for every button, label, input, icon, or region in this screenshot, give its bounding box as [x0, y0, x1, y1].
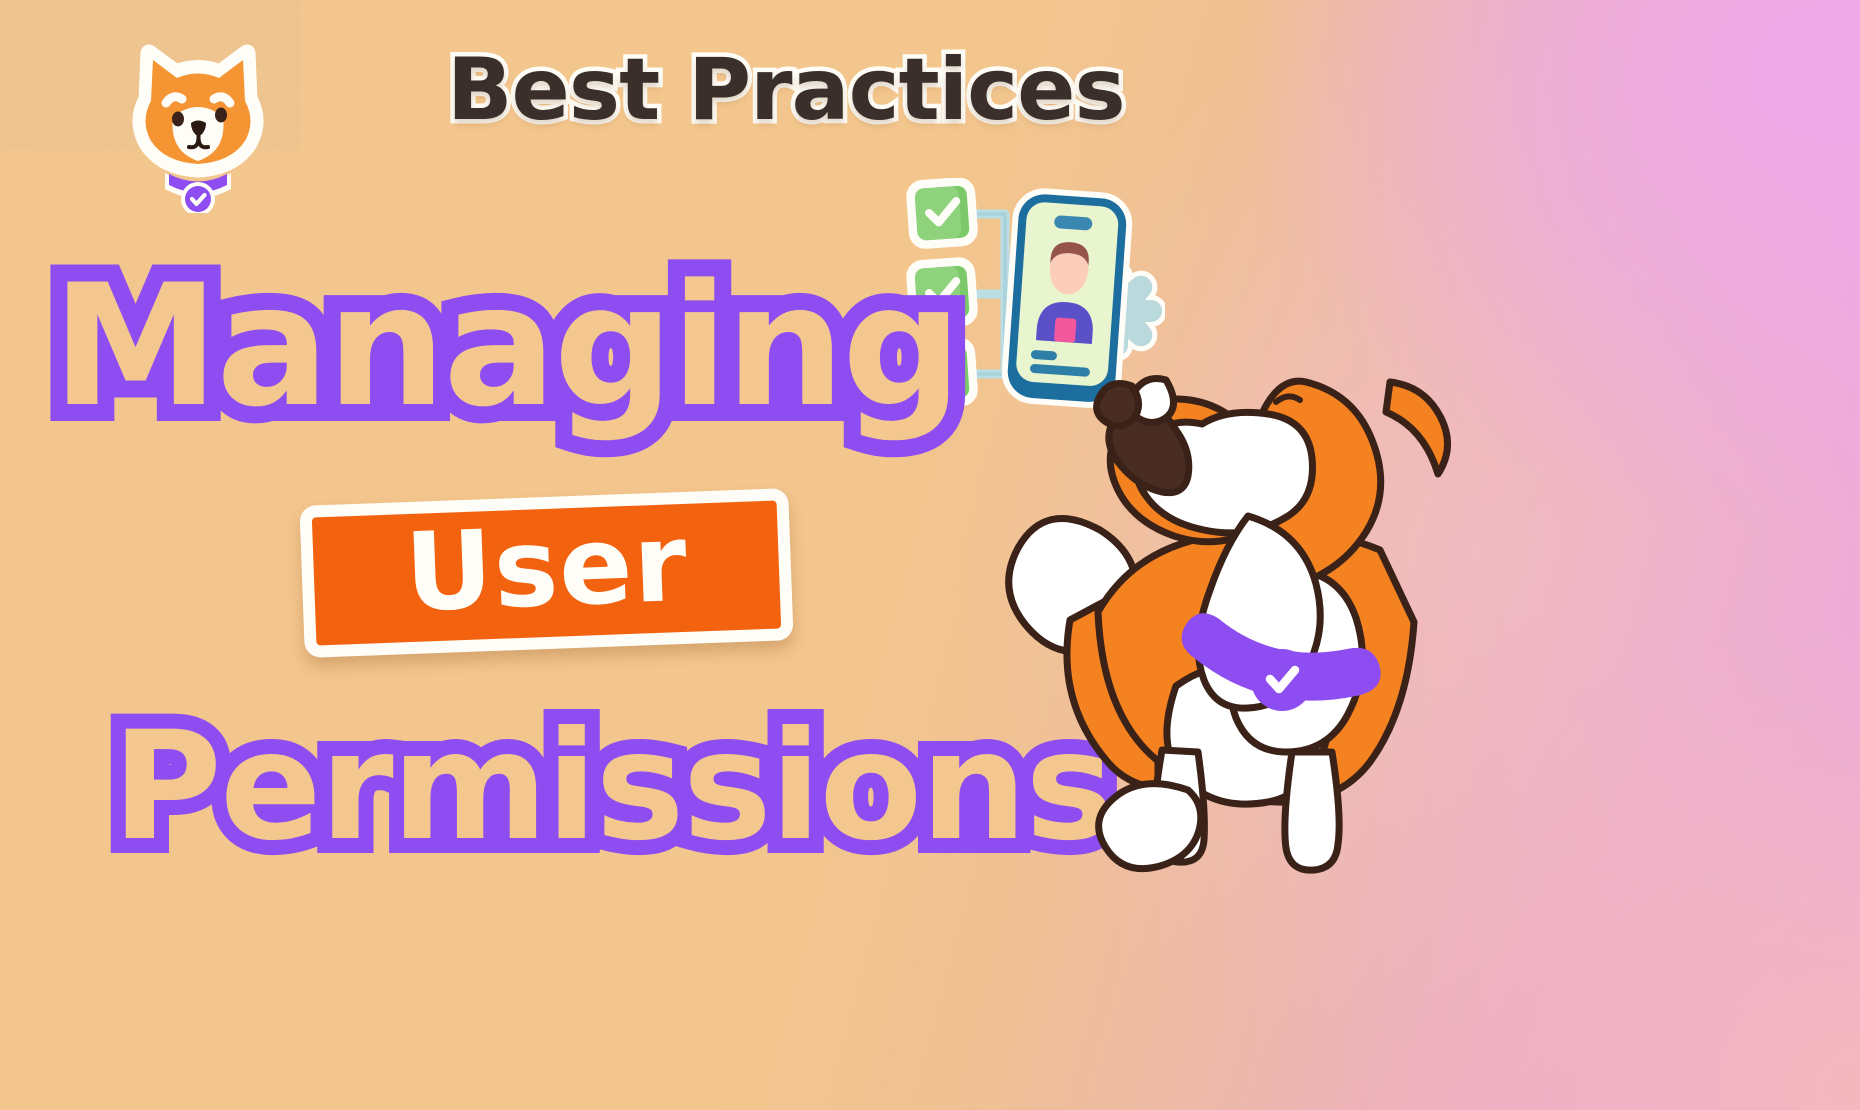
- shiba-inu-mascot-logo: [129, 33, 267, 213]
- logo-collar: [165, 173, 231, 213]
- headline-line-3-text: Permissions: [112, 700, 1112, 874]
- headline-line-1-text: Managing: [52, 248, 959, 444]
- headline-user-badge: User: [299, 488, 793, 658]
- headline-user-badge-text: User: [403, 510, 689, 628]
- collar-tag: [185, 186, 211, 212]
- logo-head: [141, 53, 255, 169]
- headline-line-1: Managing Managing: [52, 262, 959, 430]
- page-eyebrow-title: Best Practices: [447, 40, 1125, 140]
- headline-line-3: Permissions Permissions: [112, 712, 1112, 862]
- permission-checkbox-1[interactable]: [911, 182, 973, 244]
- shiba-inu-illustration: [980, 320, 1500, 890]
- poster-canvas: Best Practices: [0, 0, 1860, 1110]
- phone-speaker: [1054, 215, 1093, 231]
